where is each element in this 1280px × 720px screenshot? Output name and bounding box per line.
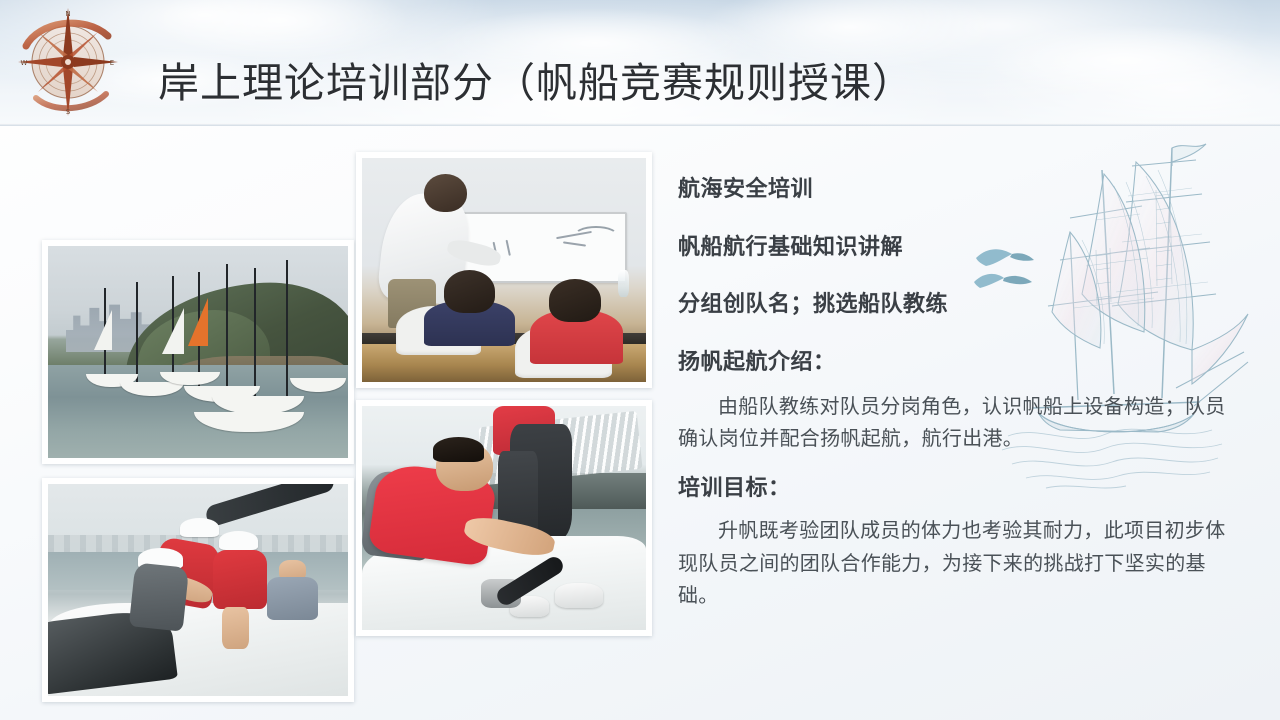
student-head bbox=[549, 279, 600, 322]
svg-text:W: W bbox=[21, 59, 28, 67]
svg-text:N: N bbox=[65, 10, 70, 18]
cloud-wisp bbox=[150, 0, 410, 60]
water-bottle bbox=[618, 270, 629, 297]
heading-safety-training: 航海安全培训 bbox=[678, 176, 1238, 204]
svg-text:S: S bbox=[66, 108, 71, 116]
instructor-head bbox=[424, 174, 467, 212]
student-head bbox=[444, 270, 495, 313]
goal-body-text: 升帆既考验团队成员的体力也考验其耐力，此项目初步体现队员之间的团队合作能力，为接… bbox=[678, 514, 1238, 611]
compass-rose-icon: N E S W bbox=[12, 2, 124, 122]
intro-body-text: 由船队教练对队员分岗角色，认识帆船上设备构造；队员确认岗位并配合扬帆起航，航行出… bbox=[678, 390, 1238, 455]
svg-text:E: E bbox=[110, 59, 114, 67]
heading-setting-sail-intro: 扬帆起航介绍： bbox=[678, 349, 1238, 377]
heading-team-grouping: 分组创队名；挑选船队教练 bbox=[678, 291, 1238, 319]
slide-root: N E S W 岸上理论培训部分（帆船竞赛规则授课） bbox=[0, 0, 1280, 720]
content-column: 航海安全培训 帆船航行基础知识讲解 分组创队名；挑选船队教练 扬帆起航介绍： 由… bbox=[678, 176, 1238, 631]
cloud-wisp bbox=[980, 24, 1270, 96]
heading-training-goal: 培训目标： bbox=[678, 475, 1238, 503]
boom bbox=[204, 484, 336, 528]
sailor-hair bbox=[433, 437, 484, 462]
heading-basics-lecture: 帆船航行基础知识讲解 bbox=[678, 234, 1238, 262]
page-title: 岸上理论培训部分（帆船竞赛规则授课） bbox=[158, 63, 914, 104]
winch-operation-photo bbox=[356, 400, 652, 636]
marina-sailboats-photo bbox=[42, 240, 354, 464]
slide-header: N E S W 岸上理论培训部分（帆船竞赛规则授课） bbox=[0, 0, 1280, 126]
classroom-lecture-photo bbox=[356, 152, 652, 388]
kids-boarding-photo bbox=[42, 478, 354, 702]
